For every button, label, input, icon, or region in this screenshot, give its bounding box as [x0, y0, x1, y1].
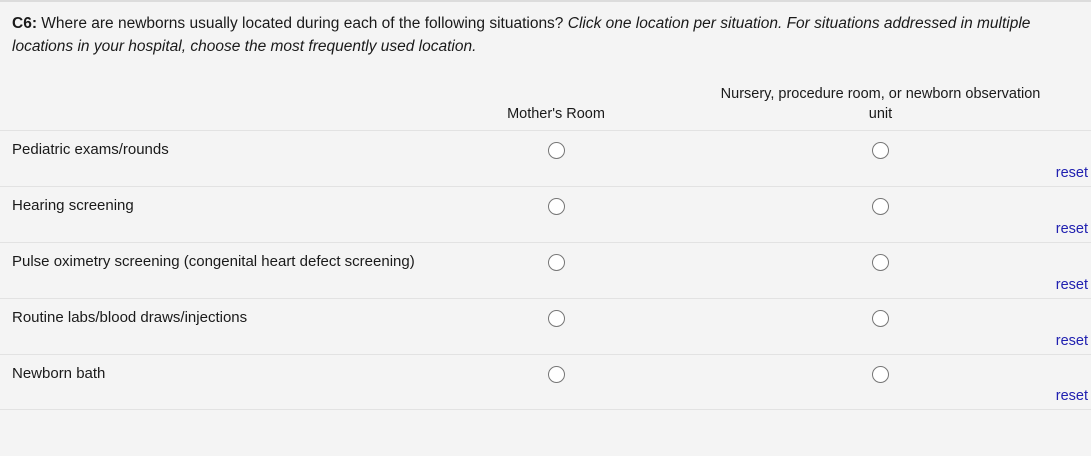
row-label-routine-labs: Routine labs/blood draws/injections	[0, 299, 442, 329]
radio-cell-nursery[interactable]	[670, 243, 1091, 272]
reset-link[interactable]: reset	[1056, 277, 1088, 293]
radio-button-nursery[interactable]	[872, 142, 889, 159]
matrix-row-body: Hearing screening	[0, 187, 1091, 217]
radio-cell-mothers-room[interactable]	[442, 243, 670, 272]
radio-cell-nursery[interactable]	[670, 299, 1091, 328]
radio-button-mothers-room[interactable]	[548, 310, 565, 327]
matrix-row: Pediatric exams/rounds reset	[0, 130, 1091, 186]
row-reset-container: reset	[0, 220, 1091, 242]
question-text: Where are newborns usually located durin…	[37, 15, 568, 32]
row-reset-container: reset	[0, 276, 1091, 298]
radio-button-nursery[interactable]	[872, 310, 889, 327]
matrix-row: Hearing screening reset	[0, 186, 1091, 242]
radio-cell-nursery[interactable]	[670, 187, 1091, 216]
row-reset-container: reset	[0, 332, 1091, 354]
location-matrix: Mother's Room Nursery, procedure room, o…	[0, 84, 1091, 410]
matrix-column-headers: Mother's Room Nursery, procedure room, o…	[0, 84, 1091, 130]
radio-cell-mothers-room[interactable]	[442, 131, 670, 160]
radio-cell-mothers-room[interactable]	[442, 355, 670, 384]
matrix-row-body: Pulse oximetry screening (congenital hea…	[0, 243, 1091, 273]
matrix-row-body: Pediatric exams/rounds	[0, 131, 1091, 161]
reset-link[interactable]: reset	[1056, 165, 1088, 181]
reset-link[interactable]: reset	[1056, 221, 1088, 237]
radio-button-nursery[interactable]	[872, 254, 889, 271]
radio-button-mothers-room[interactable]	[548, 366, 565, 383]
matrix-row-body: Routine labs/blood draws/injections	[0, 299, 1091, 329]
radio-cell-mothers-room[interactable]	[442, 187, 670, 216]
matrix-row: Routine labs/blood draws/injections rese…	[0, 298, 1091, 354]
column-header-nursery: Nursery, procedure room, or newborn obse…	[670, 84, 1091, 125]
row-label-pulse-oximetry: Pulse oximetry screening (congenital hea…	[0, 243, 442, 273]
radio-button-nursery[interactable]	[872, 366, 889, 383]
radio-button-mothers-room[interactable]	[548, 142, 565, 159]
matrix-row-body: Newborn bath	[0, 355, 1091, 385]
row-label-hearing-screening: Hearing screening	[0, 187, 442, 217]
survey-question-panel: C6: Where are newborns usually located d…	[0, 0, 1091, 456]
row-label-pediatric-exams: Pediatric exams/rounds	[0, 131, 442, 161]
row-reset-container: reset	[0, 387, 1091, 409]
question-code: C6:	[12, 15, 37, 32]
radio-button-nursery[interactable]	[872, 198, 889, 215]
reset-link[interactable]: reset	[1056, 388, 1088, 404]
reset-link[interactable]: reset	[1056, 333, 1088, 349]
radio-cell-mothers-room[interactable]	[442, 299, 670, 328]
column-header-mothers-room: Mother's Room	[442, 104, 670, 125]
radio-button-mothers-room[interactable]	[548, 198, 565, 215]
radio-cell-nursery[interactable]	[670, 131, 1091, 160]
matrix-row: Newborn bath reset	[0, 354, 1091, 410]
radio-button-mothers-room[interactable]	[548, 254, 565, 271]
matrix-row: Pulse oximetry screening (congenital hea…	[0, 242, 1091, 298]
question-prompt: C6: Where are newborns usually located d…	[0, 2, 1060, 59]
row-reset-container: reset	[0, 164, 1091, 186]
row-label-newborn-bath: Newborn bath	[0, 355, 442, 385]
radio-cell-nursery[interactable]	[670, 355, 1091, 384]
